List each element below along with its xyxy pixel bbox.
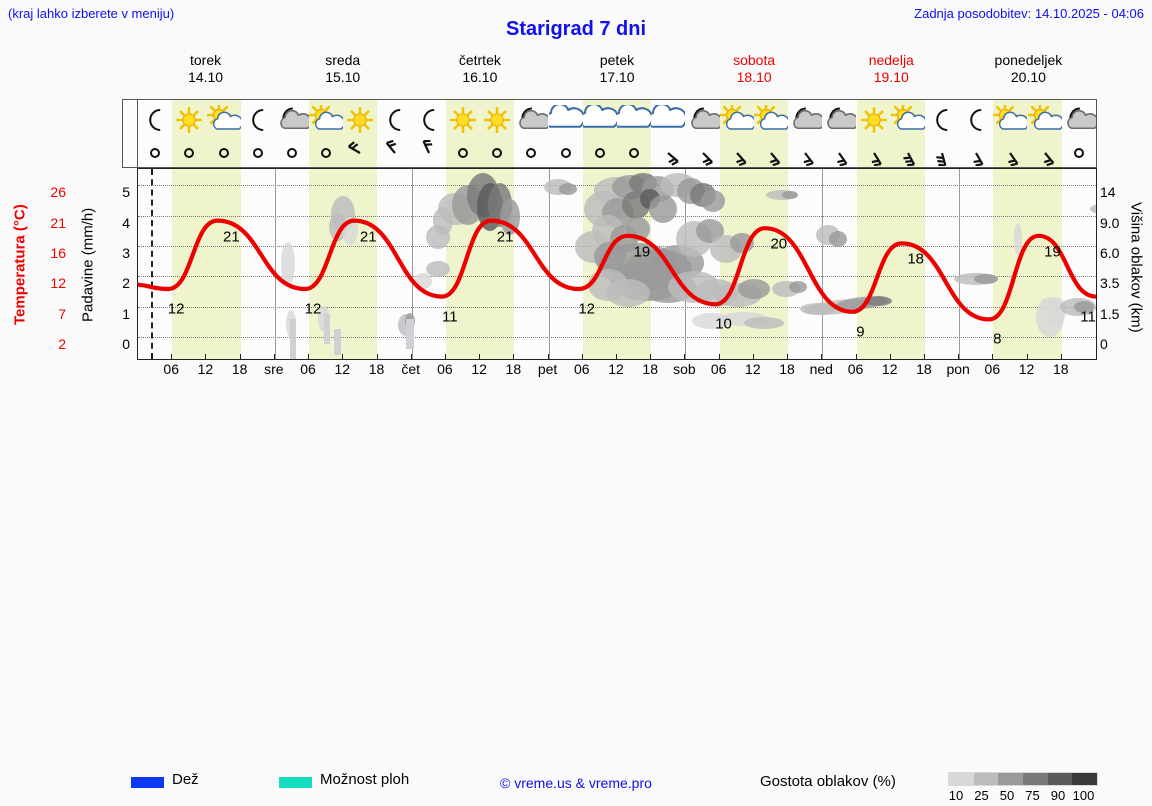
page-title: Starigrad 7 dni <box>0 18 1152 41</box>
cloud-density-ramp-ticks: 1025507590100 <box>940 788 1110 806</box>
x-tick-mark <box>479 354 480 360</box>
rain-legend-swatch <box>131 777 164 788</box>
day-date: 14.10 <box>137 69 274 86</box>
wind-calm-icon <box>617 139 651 167</box>
x-tick-label: sob <box>673 361 696 377</box>
moon-cloud-icon <box>514 100 548 139</box>
cloud-icon <box>617 100 651 139</box>
rain-legend-label: Dež <box>172 771 199 788</box>
wind-barb-icon <box>959 139 993 167</box>
temperature-value-label: 12 <box>168 301 185 318</box>
day-date: 16.10 <box>411 69 548 86</box>
cloud-height-tick-4: 1.5 <box>1100 306 1119 322</box>
cloud-density-ramp-step <box>1023 773 1048 785</box>
x-tick-label: 12 <box>198 361 214 377</box>
band-left-stub <box>122 99 138 168</box>
moon-cloud-icon <box>788 100 822 139</box>
x-tick-label: 18 <box>369 361 385 377</box>
temperature-value-label: 18 <box>907 251 924 268</box>
cloud-density-color-ramp <box>948 772 1098 786</box>
wind-barb-icon <box>925 139 959 167</box>
cloud-height-tick-3: 3.5 <box>1100 275 1119 291</box>
temperature-tick-5: 2 <box>34 336 66 352</box>
temperature-value-label: 9 <box>856 323 864 340</box>
x-tick-label: 12 <box>608 361 624 377</box>
x-tick-mark <box>1061 354 1062 360</box>
x-axis-tick-labels: 061218sre061218čet061218pet061218sob0612… <box>137 361 1097 381</box>
x-tick-mark <box>787 354 788 360</box>
x-tick-label: 06 <box>711 361 727 377</box>
x-tick-label: sre <box>264 361 283 377</box>
x-tick-label: 18 <box>916 361 932 377</box>
wind-calm-icon <box>172 139 206 167</box>
cloud-density-ramp-step <box>949 773 974 785</box>
wind-barb-icon <box>993 139 1027 167</box>
day-header-row: torek14.10sreda15.10četrtek16.10petek17.… <box>137 52 1097 96</box>
sun-icon <box>480 100 514 139</box>
day-name: sobota <box>686 52 823 69</box>
day-header-petek: petek17.10 <box>548 52 685 96</box>
day-date: 19.10 <box>823 69 960 86</box>
cloud-icon <box>549 100 583 139</box>
temperature-value-label: 21 <box>360 228 377 245</box>
copyright-link[interactable]: © vreme.us & vreme.pro <box>500 775 652 791</box>
x-tick-mark <box>582 354 583 360</box>
temperature-curve <box>138 169 1096 359</box>
wind-barb-icon <box>720 139 754 167</box>
x-tick-label: 12 <box>471 361 487 377</box>
day-name: četrtek <box>411 52 548 69</box>
wind-barb-icon <box>857 139 891 167</box>
cloud-height-tick-1: 9.0 <box>1100 215 1119 231</box>
precipitation-tick-0: 5 <box>102 184 130 200</box>
temperature-value-label: 11 <box>442 308 458 325</box>
wind-calm-icon <box>1062 139 1096 167</box>
temperature-value-label: 10 <box>715 316 732 333</box>
temperature-value-label: 8 <box>993 331 1001 348</box>
precipitation-axis-title: Padavine (mm/h) <box>76 165 100 365</box>
day-name: petek <box>548 52 685 69</box>
cloud-icon <box>651 100 685 139</box>
cloud-density-ramp-tick: 50 <box>1000 788 1014 803</box>
day-date: 17.10 <box>548 69 685 86</box>
sun-cloud-icon <box>720 100 754 139</box>
temperature-tick-1: 21 <box>34 215 66 231</box>
x-tick-mark <box>992 354 993 360</box>
x-tick-mark <box>342 354 343 360</box>
day-header-sobota: sobota18.10 <box>686 52 823 96</box>
precipitation-tick-3: 2 <box>102 275 130 291</box>
wind-calm-icon <box>480 139 514 167</box>
sun-icon <box>343 100 377 139</box>
cloud-height-tick-5: 0 <box>1100 336 1108 352</box>
x-tick-label: 18 <box>779 361 795 377</box>
x-tick-label: ned <box>810 361 833 377</box>
wind-barb-icon <box>378 139 412 167</box>
cloud-height-tick-0: 14 <box>1100 184 1116 200</box>
cloud-density-ramp-tick: 100 <box>1073 788 1095 803</box>
wind-barb-icon <box>822 139 856 167</box>
x-tick-mark <box>377 354 378 360</box>
moon-cloud-icon <box>822 100 856 139</box>
x-tick-label: čet <box>401 361 420 377</box>
x-tick-label: 12 <box>334 361 350 377</box>
precipitation-tick-5: 0 <box>102 336 130 352</box>
moon-icon <box>138 100 172 139</box>
temperature-value-label: 12 <box>578 301 595 318</box>
day-name: ponedeljek <box>960 52 1097 69</box>
day-header-nedelja: nedelja19.10 <box>823 52 960 96</box>
day-header-sreda: sreda15.10 <box>274 52 411 96</box>
cloud-icon <box>583 100 617 139</box>
x-tick-mark <box>548 354 549 360</box>
x-tick-mark <box>650 354 651 360</box>
moon-cloud-icon <box>1062 100 1096 139</box>
temperature-tick-4: 7 <box>34 306 66 322</box>
cloud-density-ramp-step <box>1072 773 1097 785</box>
cloud-density-ramp-step <box>1048 773 1073 785</box>
temperature-value-label: 12 <box>305 301 322 318</box>
wind-calm-icon <box>206 139 240 167</box>
temperature-tick-2: 16 <box>34 245 66 261</box>
x-tick-label: 18 <box>506 361 522 377</box>
cloud-density-ramp-tick: 25 <box>974 788 988 803</box>
sun-icon <box>857 100 891 139</box>
precipitation-axis-ticks: 543210 <box>102 160 130 366</box>
x-tick-label: 06 <box>848 361 864 377</box>
sky-condition-band <box>137 99 1097 139</box>
temperature-value-label: 21 <box>223 228 240 245</box>
wind-barb-icon <box>754 139 788 167</box>
day-name: nedelja <box>823 52 960 69</box>
x-tick-label: 06 <box>163 361 179 377</box>
x-tick-mark <box>684 354 685 360</box>
x-tick-label: 18 <box>642 361 658 377</box>
x-tick-label: pet <box>538 361 557 377</box>
temperature-value-label: 19 <box>634 243 651 260</box>
x-tick-label: 12 <box>745 361 761 377</box>
temperature-tick-3: 12 <box>34 275 66 291</box>
moon-cloud-icon <box>685 100 719 139</box>
wind-barb-icon <box>651 139 685 167</box>
moon-icon <box>412 100 446 139</box>
sun-icon <box>446 100 480 139</box>
x-tick-mark <box>856 354 857 360</box>
moon-icon <box>959 100 993 139</box>
temperature-value-label: 20 <box>770 236 787 253</box>
sun-cloud-icon <box>891 100 925 139</box>
x-tick-mark <box>924 354 925 360</box>
day-header-ponedeljek: ponedeljek20.10 <box>960 52 1097 96</box>
wind-calm-icon <box>446 139 480 167</box>
wind-barb-icon <box>788 139 822 167</box>
x-tick-mark <box>445 354 446 360</box>
x-tick-mark <box>719 354 720 360</box>
x-tick-mark <box>753 354 754 360</box>
cloud-height-axis-title: Višina oblakov (km) <box>1124 165 1148 370</box>
precipitation-tick-1: 4 <box>102 215 130 231</box>
x-tick-mark <box>616 354 617 360</box>
day-name: torek <box>137 52 274 69</box>
x-tick-mark <box>240 354 241 360</box>
wind-calm-icon <box>138 139 172 167</box>
wind-calm-icon <box>309 139 343 167</box>
wind-calm-icon <box>583 139 617 167</box>
moon-icon <box>378 100 412 139</box>
cloud-density-ramp-step <box>974 773 999 785</box>
wind-barb-icon <box>412 139 446 167</box>
day-header-četrtek: četrtek16.10 <box>411 52 548 96</box>
day-date: 15.10 <box>274 69 411 86</box>
x-tick-label: 06 <box>574 361 590 377</box>
temperature-value-label: 11 <box>1080 308 1096 325</box>
precipitation-tick-2: 3 <box>102 245 130 261</box>
x-tick-label: 18 <box>1053 361 1069 377</box>
x-tick-label: 18 <box>232 361 248 377</box>
wind-calm-icon <box>241 139 275 167</box>
wind-barb-icon <box>685 139 719 167</box>
sun-cloud-icon <box>1028 100 1062 139</box>
sun-cloud-icon <box>754 100 788 139</box>
moon-icon <box>925 100 959 139</box>
shower-legend-label: Možnost ploh <box>320 771 409 788</box>
cloud-density-ramp-step <box>998 773 1023 785</box>
moon-cloud-icon <box>275 100 309 139</box>
cloud-height-tick-2: 6.0 <box>1100 245 1119 261</box>
forecast-plot[interactable]: 1221122111211219102091881911 <box>137 168 1097 360</box>
sun-icon <box>172 100 206 139</box>
x-tick-mark <box>958 354 959 360</box>
x-tick-mark <box>1027 354 1028 360</box>
wind-calm-icon <box>275 139 309 167</box>
day-name: sreda <box>274 52 411 69</box>
last-update-label: Zadnja posodobitev: 14.10.2025 - 04:06 <box>914 6 1144 21</box>
x-tick-mark <box>171 354 172 360</box>
x-tick-label: pon <box>946 361 969 377</box>
sun-cloud-icon <box>993 100 1027 139</box>
cloud-density-ramp-tick: 90 <box>1051 788 1065 803</box>
shower-legend-swatch <box>279 777 312 788</box>
wind-barb-icon <box>1028 139 1062 167</box>
x-tick-label: 06 <box>300 361 316 377</box>
wind-calm-icon <box>549 139 583 167</box>
x-tick-mark <box>821 354 822 360</box>
temperature-axis-title: Temperatura (°C) <box>8 165 32 365</box>
cloud-density-legend-label: Gostota oblakov (%) <box>760 773 896 790</box>
x-tick-mark <box>890 354 891 360</box>
temperature-value-label: 21 <box>497 228 514 245</box>
wind-calm-icon <box>514 139 548 167</box>
x-tick-label: 12 <box>882 361 898 377</box>
wind-barb-band <box>137 139 1097 168</box>
legend: Dež Možnost ploh © vreme.us & vreme.pro … <box>0 385 1152 431</box>
cloud-density-ramp-tick: 75 <box>1025 788 1039 803</box>
wind-barb-icon <box>343 139 377 167</box>
day-header-torek: torek14.10 <box>137 52 274 96</box>
temperature-value-label: 19 <box>1044 243 1061 260</box>
x-tick-label: 06 <box>437 361 453 377</box>
sun-cloud-icon <box>206 100 240 139</box>
moon-icon <box>241 100 275 139</box>
x-tick-mark <box>308 354 309 360</box>
x-tick-mark <box>205 354 206 360</box>
temperature-axis-ticks: 2621161272 <box>34 160 66 366</box>
sun-cloud-icon <box>309 100 343 139</box>
precipitation-tick-4: 1 <box>102 306 130 322</box>
cloud-density-ramp-tick: 10 <box>949 788 963 803</box>
wind-barb-icon <box>891 139 925 167</box>
day-date: 20.10 <box>960 69 1097 86</box>
x-tick-mark <box>411 354 412 360</box>
x-tick-label: 12 <box>1019 361 1035 377</box>
x-tick-label: 06 <box>985 361 1001 377</box>
temperature-tick-0: 26 <box>34 184 66 200</box>
x-tick-mark <box>274 354 275 360</box>
x-tick-mark <box>513 354 514 360</box>
day-date: 18.10 <box>686 69 823 86</box>
